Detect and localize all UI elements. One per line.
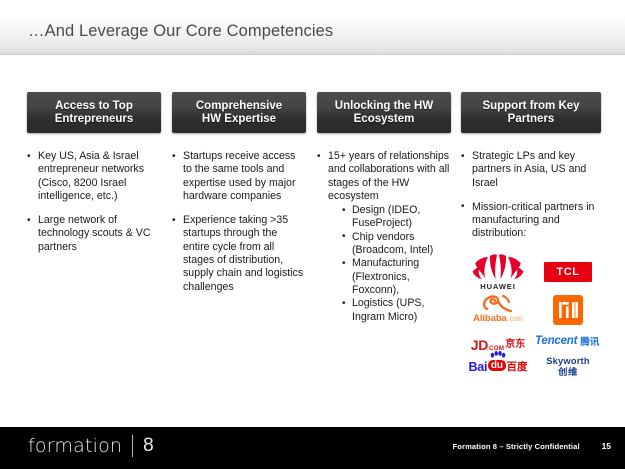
partner-logo-cell: Tencent 腾讯 (535, 331, 601, 351)
column-header-4: Support from Key Partners (461, 92, 601, 133)
tcl-logo: TCL (544, 262, 592, 282)
column-header-2-line2: HW Expertise (202, 113, 276, 125)
alibaba-logo-label-wrap: Alibaba.com (464, 308, 532, 326)
column-header-1-label: Access to Top Entrepreneurs (55, 100, 134, 126)
partner-logo-cell: Skyworth 创维 (535, 356, 601, 377)
baidu-logo: Baidu百度 (463, 355, 533, 379)
partner-logo-row-1: HUAWEI TCL (461, 252, 601, 292)
skyworth-logo: Skyworth 创维 (535, 356, 601, 377)
skyworth-logo-label: Skyworth (535, 356, 601, 367)
mi-glyph-icon (559, 302, 578, 318)
column-1-body: Key US, Asia & Israel entrepreneur netwo… (27, 150, 161, 254)
column-header-3-label: Unlocking the HW Ecosystem (335, 100, 433, 126)
formation-8-logo: formation 8 (28, 435, 154, 457)
slide: …And Leverage Our Core Competencies Acce… (0, 0, 625, 469)
page-number: 15 (602, 441, 611, 451)
column-support-from-key-partners: Support from Key Partners Strategic LPs … (461, 92, 601, 380)
bullet-text: 15+ years of relationships and collabora… (328, 150, 449, 202)
partner-logo-grid: HUAWEI TCL (461, 252, 601, 380)
bullet-item: Key US, Asia & Israel entrepreneur netwo… (27, 150, 161, 203)
baidu-logo-suffix: du (488, 360, 505, 371)
alibaba-logo-label: Alibaba (473, 313, 507, 324)
brand-divider (132, 435, 133, 457)
huawei-logo: HUAWEI (464, 253, 532, 291)
competency-columns: Access to Top Entrepreneurs Key US, Asia… (0, 92, 625, 412)
skyworth-logo-label-cn: 创维 (535, 367, 601, 378)
column-header-4-label: Support from Key Partners (482, 100, 579, 126)
jd-logo-label-cn: 京东 (505, 335, 525, 350)
bullet-item: Experience taking >35 startups through t… (172, 214, 306, 294)
jd-logo-label: JD (471, 337, 488, 353)
baidu-logo-label: Bai (468, 360, 487, 374)
bullet-list-4: Strategic LPs and key partners in Asia, … (461, 150, 601, 241)
bullet-list-1: Key US, Asia & Israel entrepreneur netwo… (27, 150, 161, 254)
alibaba-logo: Alibaba.com (464, 293, 532, 326)
bullet-item: Strategic LPs and key partners in Asia, … (461, 150, 601, 190)
sub-bullet-item: Manufacturing (Flextronics, Foxconn), (342, 257, 451, 297)
bullet-item: Startups receive access to the same tool… (172, 150, 306, 203)
column-unlocking-the-hw-ecosystem: Unlocking the HW Ecosystem 15+ years of … (317, 92, 451, 335)
brand-number: 8 (143, 435, 154, 457)
column-header-4-line1: Support from Key (482, 100, 579, 112)
partner-logo-row-3: JD .COM 京东 Tencent 腾讯 (461, 328, 601, 354)
baidu-logo-label-cn: 百度 (507, 359, 528, 374)
column-header-3-line2: Ecosystem (354, 113, 415, 125)
tencent-logo-label-cn: 腾讯 (580, 334, 599, 348)
column-header-1-line2: Entrepreneurs (55, 113, 134, 125)
jd-logo: JD .COM 京东 (464, 329, 532, 353)
huawei-petals-icon (472, 253, 524, 281)
column-header-2-line1: Comprehensive (196, 100, 282, 112)
tencent-logo: Tencent 腾讯 (535, 331, 601, 351)
partner-logo-cell: HUAWEI (461, 253, 535, 291)
sub-bullet-item: Logistics (UPS, Ingram Micro) (342, 297, 451, 324)
partner-logo-cell: TCL (535, 262, 601, 282)
brand-wordmark: formation (28, 435, 122, 457)
xiaomi-mi-logo (553, 295, 583, 325)
huawei-logo-label: HUAWEI (464, 282, 532, 291)
partner-logo-cell: JD .COM 京东 (461, 329, 535, 353)
partner-logo-cell (535, 295, 601, 325)
partner-logo-cell: Alibaba.com (461, 293, 535, 326)
column-header-3: Unlocking the HW Ecosystem (317, 92, 451, 133)
sub-bullet-item: Chip vendors (Broadcom, Intel) (342, 231, 451, 258)
tcl-logo-label: TCL (556, 266, 579, 278)
column-comprehensive-hw-expertise: Comprehensive HW Expertise Startups rece… (172, 92, 306, 305)
bullet-item: 15+ years of relationships and collabora… (317, 150, 451, 324)
column-4-body: Strategic LPs and key partners in Asia, … (461, 150, 601, 241)
confidentiality-notice: Formation 8 – Strictly Confidential (453, 442, 580, 451)
tencent-logo-label: Tencent (535, 335, 577, 347)
column-3-body: 15+ years of relationships and collabora… (317, 150, 451, 324)
bullet-list-2: Startups receive access to the same tool… (172, 150, 306, 294)
column-header-2-label: Comprehensive HW Expertise (196, 100, 282, 126)
partner-logo-cell: Baidu百度 (461, 355, 535, 379)
sub-bullet-item: Design (IDEO, FuseProject) (342, 204, 451, 231)
column-header-4-line2: Partners (508, 113, 555, 125)
slide-footer: formation 8 Formation 8 – Strictly Confi… (0, 427, 625, 469)
baidu-paw-icon (490, 351, 506, 360)
sub-bullet-list: Design (IDEO, FuseProject) Chip vendors … (328, 204, 451, 324)
column-2-body: Startups receive access to the same tool… (172, 150, 306, 294)
slide-title-bar: …And Leverage Our Core Competencies (0, 14, 625, 55)
column-header-2: Comprehensive HW Expertise (172, 92, 306, 133)
partner-logo-row-4: Baidu百度 Skyworth 创维 (461, 354, 601, 380)
bullet-item: Mission-critical partners in manufacturi… (461, 201, 601, 241)
bullet-item: Large network of technology scouts & VC … (27, 214, 161, 254)
column-header-3-line1: Unlocking the HW (335, 100, 433, 112)
partner-logo-row-2: Alibaba.com (461, 292, 601, 328)
column-header-1-line1: Access to Top (55, 100, 133, 112)
column-access-to-top-entrepreneurs: Access to Top Entrepreneurs Key US, Asia… (27, 92, 161, 265)
page-title: …And Leverage Our Core Competencies (28, 22, 333, 41)
column-header-1: Access to Top Entrepreneurs (27, 92, 161, 133)
alibaba-logo-suffix: .com (508, 316, 523, 323)
bullet-list-3: 15+ years of relationships and collabora… (317, 150, 451, 324)
footer-right: Formation 8 – Strictly Confidential 15 (453, 441, 625, 451)
